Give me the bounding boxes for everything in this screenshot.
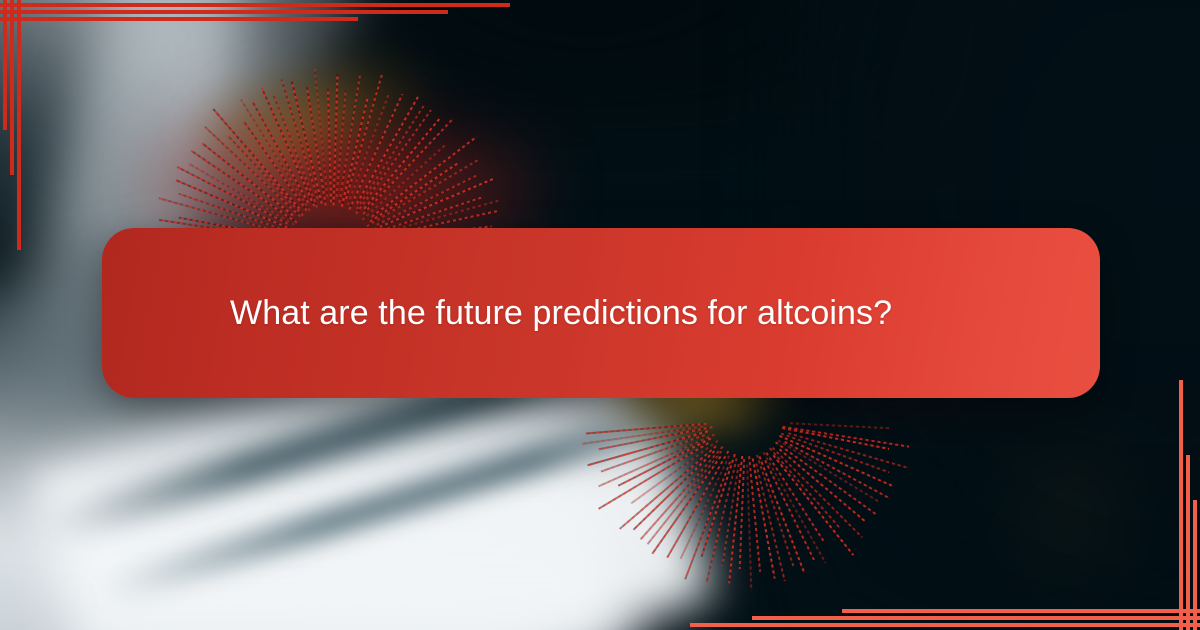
question-text: What are the future predictions for altc… xyxy=(102,293,952,334)
social-card-canvas: What are the future predictions for altc… xyxy=(0,0,1200,630)
question-card[interactable]: What are the future predictions for altc… xyxy=(102,228,1100,398)
